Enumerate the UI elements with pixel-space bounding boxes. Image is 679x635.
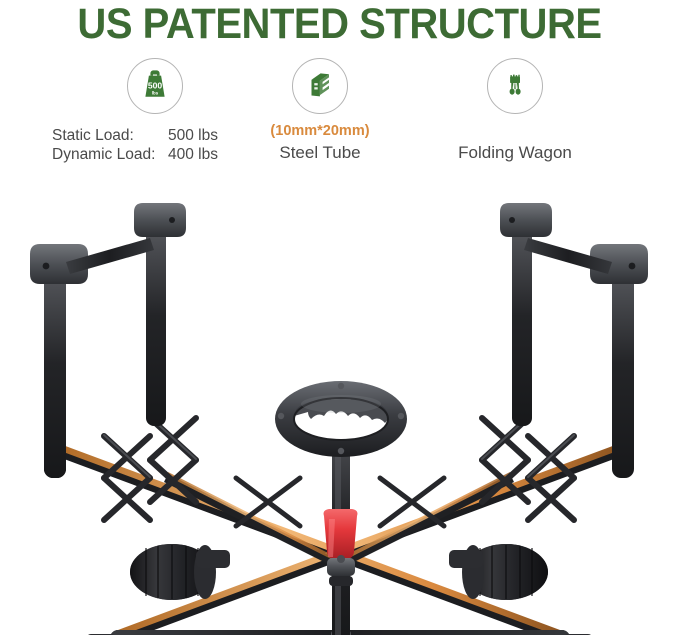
svg-text:500: 500 [148, 80, 163, 90]
feature-folding-wagon: Folding Wagon [420, 58, 610, 163]
corner-post-inner-right [500, 203, 552, 426]
product-image-folded-wagon [0, 178, 679, 635]
corner-post-outer-left [30, 244, 88, 478]
product-infographic: US PATENTED STRUCTURE 500 lbs Static Loa… [0, 0, 679, 635]
feature-row: 500 lbs Static Load: 500 lbs Dynamic Loa… [0, 58, 679, 178]
folding-wagon-icon [487, 58, 543, 114]
static-load-label: Static Load: [52, 126, 168, 145]
steel-tube-icon [292, 58, 348, 114]
dynamic-load-label: Dynamic Load: [52, 145, 168, 164]
page-title: US PATENTED STRUCTURE [24, 0, 655, 50]
weight-500lbs-icon: 500 lbs [127, 58, 183, 114]
feature-static-load: 500 lbs Static Load: 500 lbs Dynamic Loa… [30, 58, 280, 164]
load-spec-list: Static Load: 500 lbs Dynamic Load: 400 l… [30, 126, 280, 164]
svg-text:lbs: lbs [152, 90, 159, 95]
static-load-value: 500 lbs [168, 126, 218, 145]
scissor-linkage-left [104, 418, 196, 520]
pull-handle [275, 381, 407, 457]
scissor-linkage-right [482, 418, 574, 520]
folding-wagon-caption: Folding Wagon [420, 142, 610, 163]
red-lock-collar [324, 509, 358, 559]
steel-tube-caption: Steel Tube [246, 142, 394, 163]
feature-steel-tube: (10mm*20mm) Steel Tube [246, 58, 394, 163]
steel-tube-dimension: (10mm*20mm) [246, 123, 394, 140]
dynamic-load-value: 400 lbs [168, 145, 218, 164]
corner-post-inner-left [134, 203, 186, 426]
corner-post-outer-right [590, 244, 648, 478]
